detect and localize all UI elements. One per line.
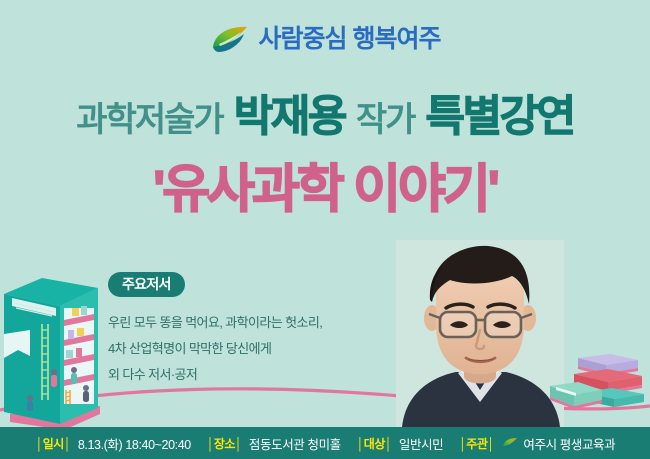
title-part-speaker-name: 박재용 [234, 96, 345, 139]
major-works-badge: 주요저서 [108, 272, 185, 297]
major-works-list: 우린 모두 똥을 먹어요, 과학이라는 헛소리, 4차 산업혁명이 막막한 당신… [108, 310, 408, 388]
info-value-host-group: 여주시 평생교육과 [498, 434, 618, 453]
info-value-host: 여주시 평생교육과 [520, 434, 618, 453]
lecture-subtitle: '유사과학 이야기' [0, 161, 650, 221]
open-book-shelf-illustration [2, 272, 102, 432]
work-item: 4차 산업혁명이 막막한 당신에게 [108, 336, 408, 362]
speaker-portrait-photo [396, 240, 564, 427]
event-info-bar: │일시│ 8.13.(화) 18:40~20:40 │장소│ 점동도서관 청미홀… [0, 427, 650, 459]
stacked-books-illustration [548, 352, 648, 414]
page-title: 과학저술가 박재용 작가 특별강연 [0, 96, 650, 139]
work-item: 우린 모두 똥을 먹어요, 과학이라는 헛소리, [108, 310, 408, 336]
brand-slogan: 사람중심 행복여주 [259, 27, 441, 52]
info-label-venue: │장소│ [203, 435, 246, 452]
info-value-datetime: 8.13.(화) 18:40~20:40 [75, 434, 194, 453]
info-value-venue: 점동도서관 청미홀 [246, 434, 344, 453]
work-item: 외 다수 저서·공저 [108, 362, 408, 388]
info-label-host: │주관│ [455, 435, 498, 452]
brand-header: 사람중심 행복여주 [0, 24, 650, 54]
yeoju-leaf-logo-icon [502, 437, 518, 449]
info-label-audience: │대상│ [353, 435, 396, 452]
major-works-block: 주요저서 우린 모두 똥을 먹어요, 과학이라는 헛소리, 4차 산업혁명이 막… [108, 272, 408, 388]
yeoju-leaf-logo-icon [210, 24, 250, 54]
title-part-writer: 작가 [356, 103, 415, 137]
info-label-datetime: │일시│ [32, 435, 75, 452]
event-poster: 사람중심 행복여주 과학저술가 박재용 작가 특별강연 '유사과학 이야기' [0, 0, 650, 459]
info-value-audience: 일반시민 [396, 434, 446, 453]
title-part-special-lecture: 특별강연 [425, 96, 573, 139]
title-part-author-role: 과학저술가 [76, 103, 222, 137]
